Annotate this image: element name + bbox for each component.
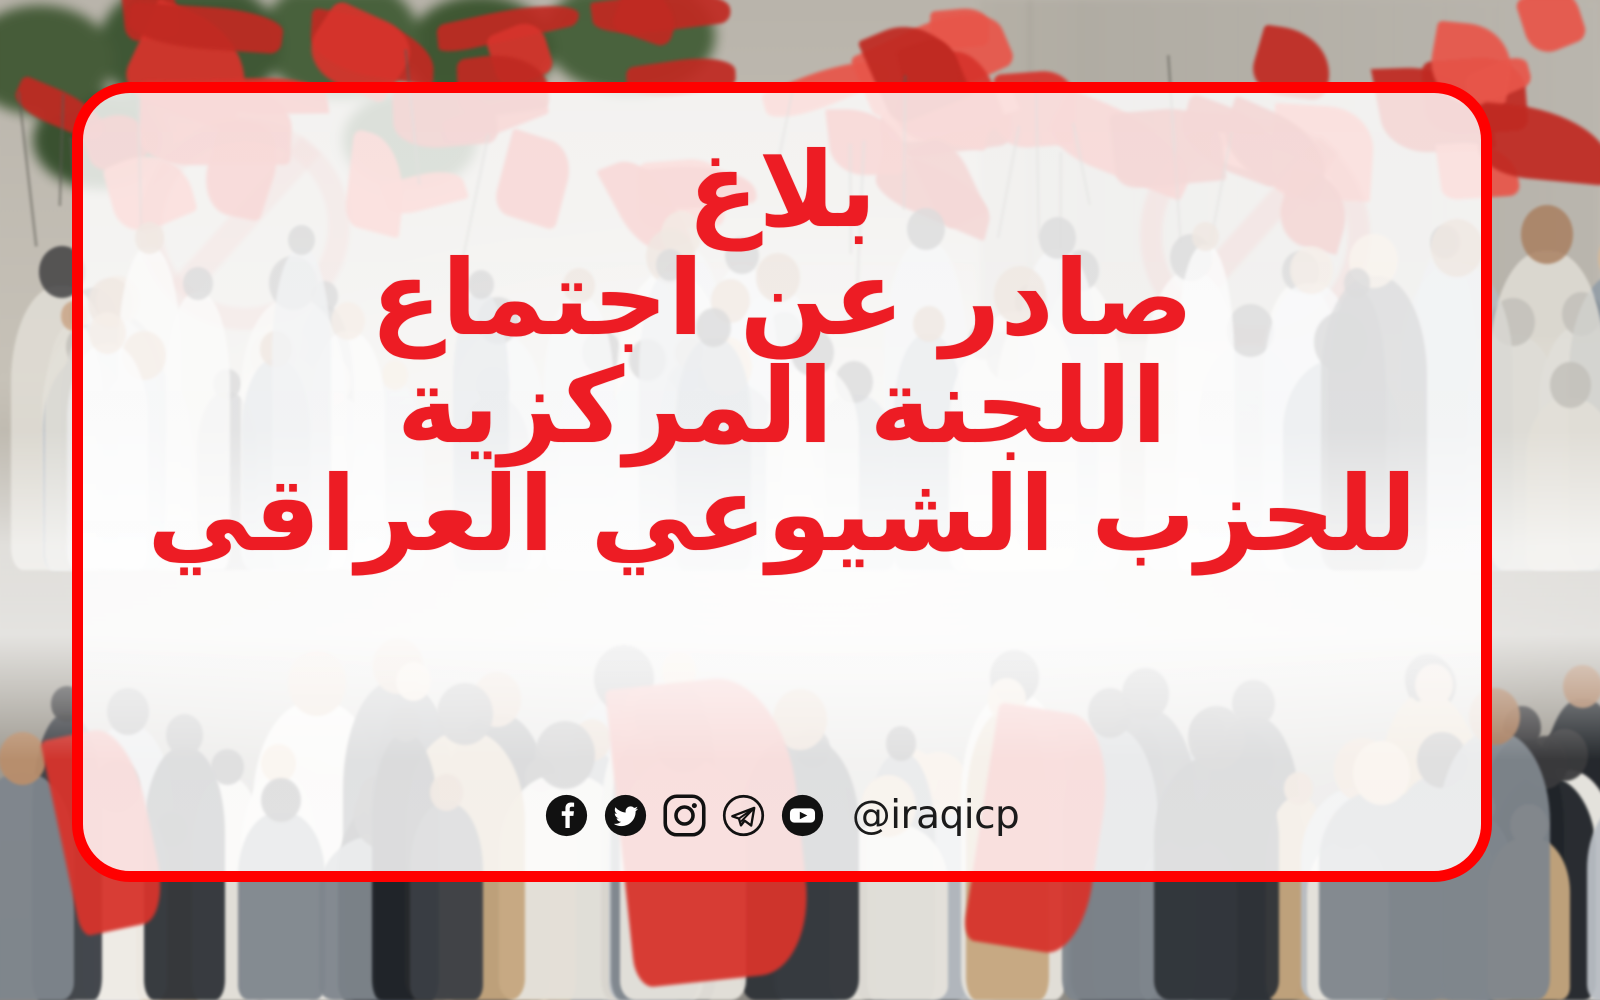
red-flag [1515, 0, 1588, 60]
crowd-figure-head [1521, 205, 1573, 264]
twitter-icon[interactable] [604, 794, 647, 837]
crowd-figure-head [0, 732, 46, 785]
red-rounded-frame: بلاغ صادر عن اجتماع اللجنة المركزية للحز… [72, 82, 1492, 882]
telegram-icon[interactable] [722, 794, 765, 837]
youtube-icon[interactable] [781, 794, 824, 837]
poster-canvas: بلاغ صادر عن اجتماع اللجنة المركزية للحز… [0, 0, 1600, 1000]
crowd-figure-head [1563, 665, 1600, 708]
headline-line-1: بلاغ [123, 137, 1441, 243]
social-handle: @iraqicp [852, 796, 1020, 835]
headline-line-2: صادر عن اجتماع [123, 245, 1441, 351]
headline-block: بلاغ صادر عن اجتماع اللجنة المركزية للحز… [83, 137, 1481, 567]
instagram-icon[interactable] [663, 794, 706, 837]
headline-line-3: اللجنة المركزية [123, 353, 1441, 459]
social-media-row: @iraqicp [83, 794, 1481, 837]
headline-line-4: للحزب الشيوعي العراقي [123, 461, 1441, 567]
crowd-figure [1490, 251, 1600, 570]
facebook-icon[interactable] [545, 794, 588, 837]
